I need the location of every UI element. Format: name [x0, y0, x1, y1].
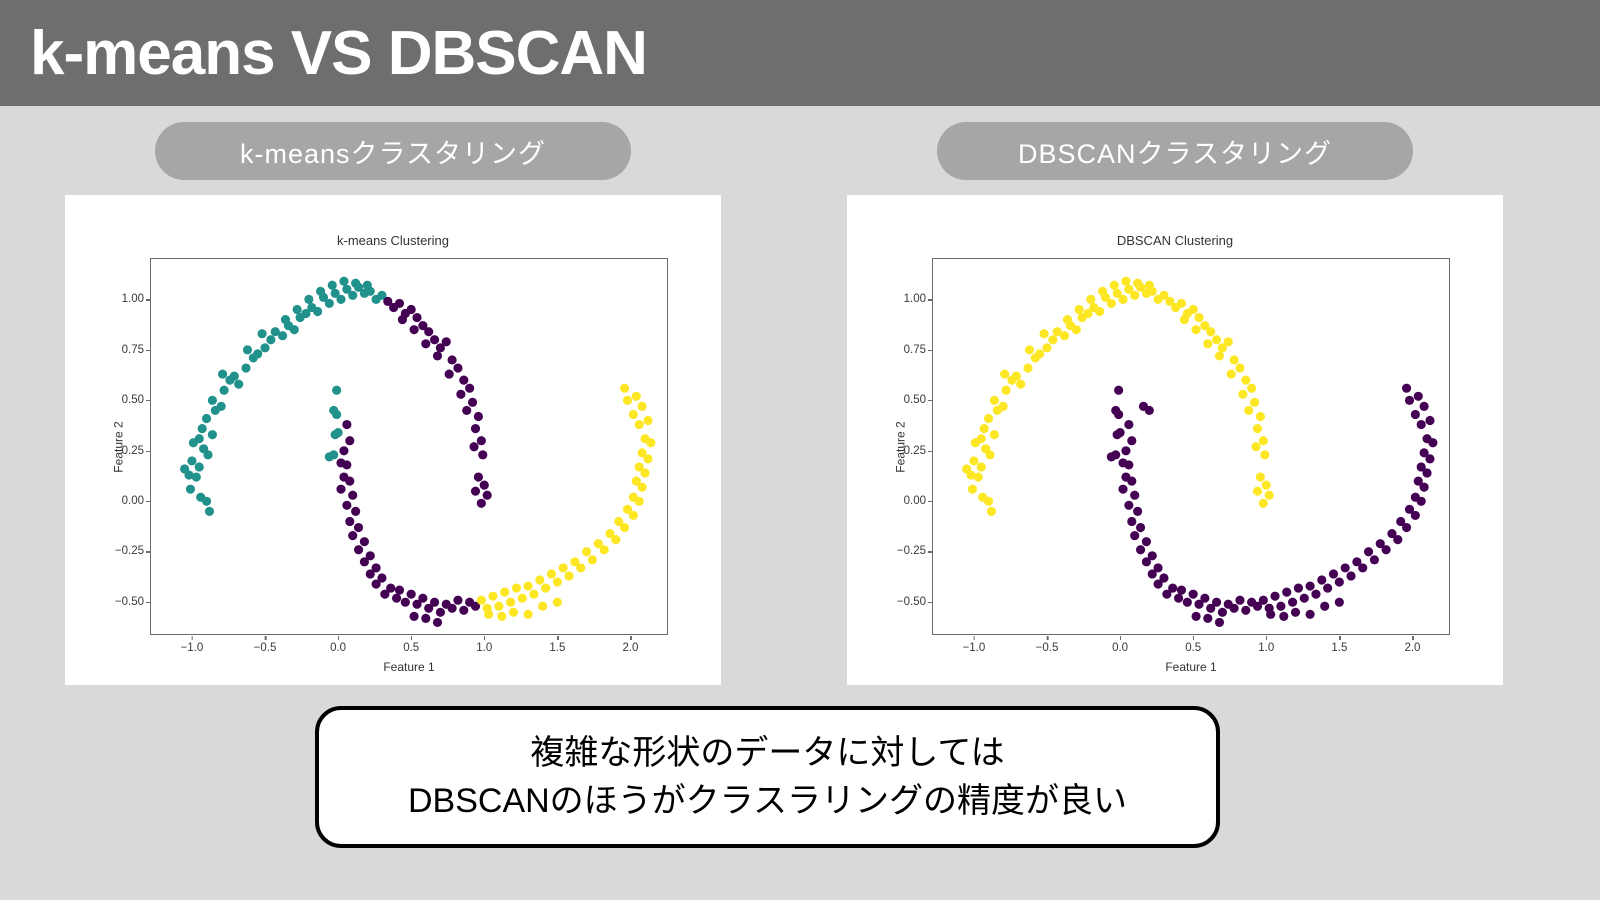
dbscan-figure: DBSCAN Clustering Feature 2 Feature 1 1.…	[847, 195, 1503, 685]
y-tick-label: 0.75	[122, 344, 144, 356]
conclusion-line-1: 複雑な形状のデータに対しては	[530, 730, 1004, 776]
x-tick-label: −0.5	[1036, 642, 1059, 654]
y-tick-label: 0.25	[122, 445, 144, 457]
x-tick-label: 0.0	[1112, 642, 1128, 654]
kmeans-chart-title: k-means Clustering	[65, 233, 721, 248]
kmeans-axes: Feature 2 Feature 1 1.000.750.500.250.00…	[150, 258, 668, 635]
x-tick-label: −1.0	[963, 642, 986, 654]
y-tick-label: 0.75	[904, 344, 926, 356]
slide-root: k-means VS DBSCAN k-meansクラスタリング DBSCANク…	[0, 0, 1600, 900]
page-title: k-means VS DBSCAN	[30, 14, 647, 94]
y-tick-label: 0.25	[904, 445, 926, 457]
x-tick-label: 1.0	[476, 642, 492, 654]
scatter-series-cluster-1	[1107, 384, 1438, 627]
dbscan-scatter-points	[933, 259, 1449, 635]
y-tick-label: 0.50	[904, 394, 926, 406]
kmeans-figure: k-means Clustering Feature 2 Feature 1 1…	[65, 195, 721, 685]
x-tick-label: 0.5	[1185, 642, 1201, 654]
x-tick-label: 0.5	[403, 642, 419, 654]
dbscan-x-axis-label: Feature 1	[933, 660, 1449, 674]
label-pill-dbscan-text: DBSCANクラスタリング	[1018, 132, 1332, 171]
header-bar: k-means VS DBSCAN	[0, 0, 1600, 106]
y-tick-label: −0.25	[897, 545, 926, 557]
dbscan-axes: Feature 2 Feature 1 1.000.750.500.250.00…	[932, 258, 1450, 635]
x-tick-label: −0.5	[254, 642, 277, 654]
y-tick-label: −0.25	[115, 545, 144, 557]
dbscan-chart-title: DBSCAN Clustering	[847, 233, 1503, 248]
x-tick-label: 0.0	[330, 642, 346, 654]
label-pill-kmeans-text: k-meansクラスタリング	[240, 132, 546, 171]
scatter-series-cluster-2	[477, 384, 656, 621]
conclusion-callout: 複雑な形状のデータに対しては DBSCANのほうがクラスラリングの精度が良い	[315, 706, 1220, 848]
scatter-series-cluster-0	[180, 277, 386, 516]
figure-card-kmeans: k-means Clustering Feature 2 Feature 1 1…	[65, 195, 721, 685]
y-tick-label: 0.00	[904, 495, 926, 507]
figure-card-dbscan: DBSCAN Clustering Feature 2 Feature 1 1.…	[847, 195, 1503, 685]
x-tick-label: 1.5	[1331, 642, 1347, 654]
kmeans-scatter-points	[151, 259, 667, 635]
x-tick-label: 2.0	[1404, 642, 1420, 654]
y-tick-label: 0.50	[122, 394, 144, 406]
y-tick-label: 0.00	[122, 495, 144, 507]
y-tick-label: −0.50	[115, 596, 144, 608]
x-tick-label: −1.0	[181, 642, 204, 654]
y-tick-label: −0.50	[897, 596, 926, 608]
scatter-series-cluster-0	[962, 277, 1274, 516]
scatter-series-cluster-1	[336, 297, 491, 627]
y-tick-label: 1.00	[904, 293, 926, 305]
conclusion-line-2: DBSCANのほうがクラスラリングの精度が良い	[408, 778, 1127, 824]
x-tick-label: 1.0	[1258, 642, 1274, 654]
x-tick-label: 2.0	[622, 642, 638, 654]
label-pill-kmeans: k-meansクラスタリング	[155, 122, 631, 180]
x-tick-label: 1.5	[549, 642, 565, 654]
label-pill-dbscan: DBSCANクラスタリング	[937, 122, 1413, 180]
y-tick-label: 1.00	[122, 293, 144, 305]
kmeans-x-axis-label: Feature 1	[151, 660, 667, 674]
